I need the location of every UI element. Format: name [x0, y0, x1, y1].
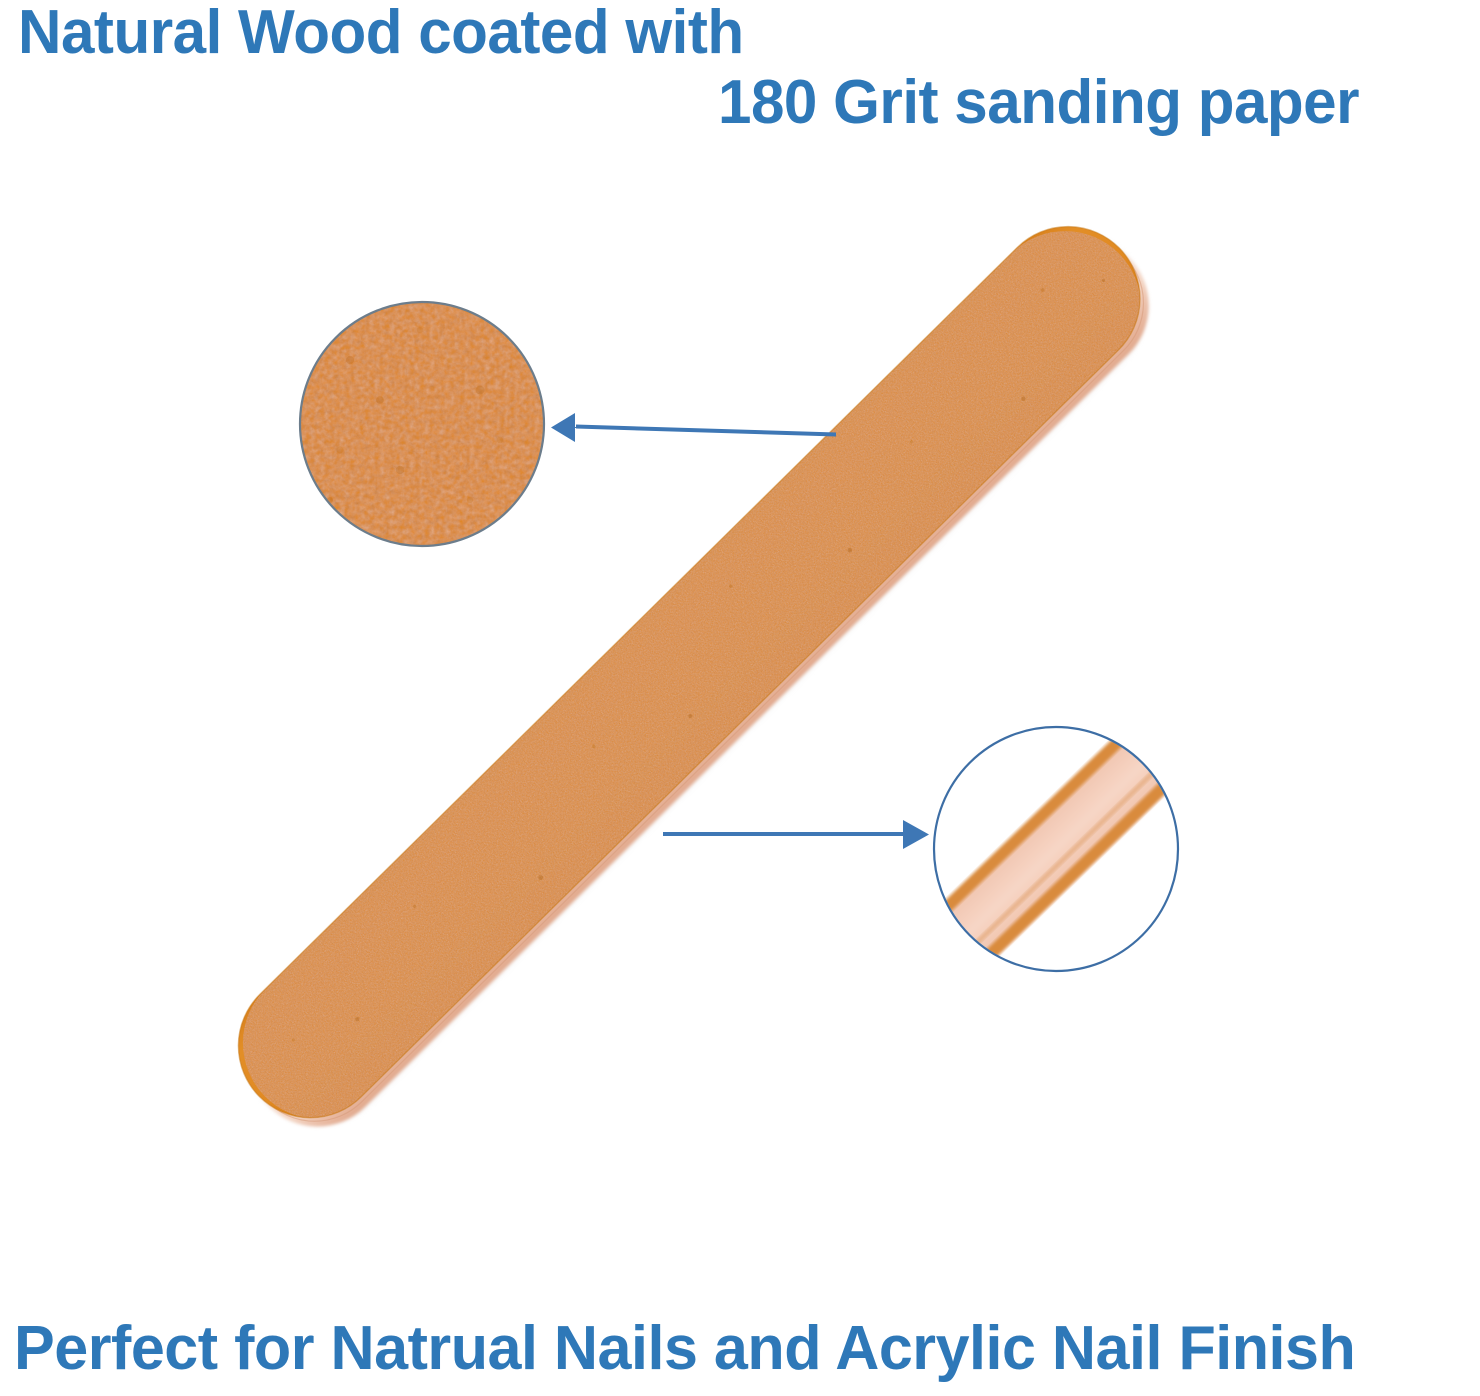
arrow-pointing-left — [551, 413, 836, 442]
edge-cross-section-magnifier — [902, 699, 1207, 997]
arrow-pointing-right — [663, 820, 929, 849]
product-illustration — [0, 0, 1480, 1396]
infographic-canvas: Natural Wood coated with 180 Grit sandin… — [0, 0, 1480, 1396]
grit-surface-magnifier — [298, 300, 548, 550]
